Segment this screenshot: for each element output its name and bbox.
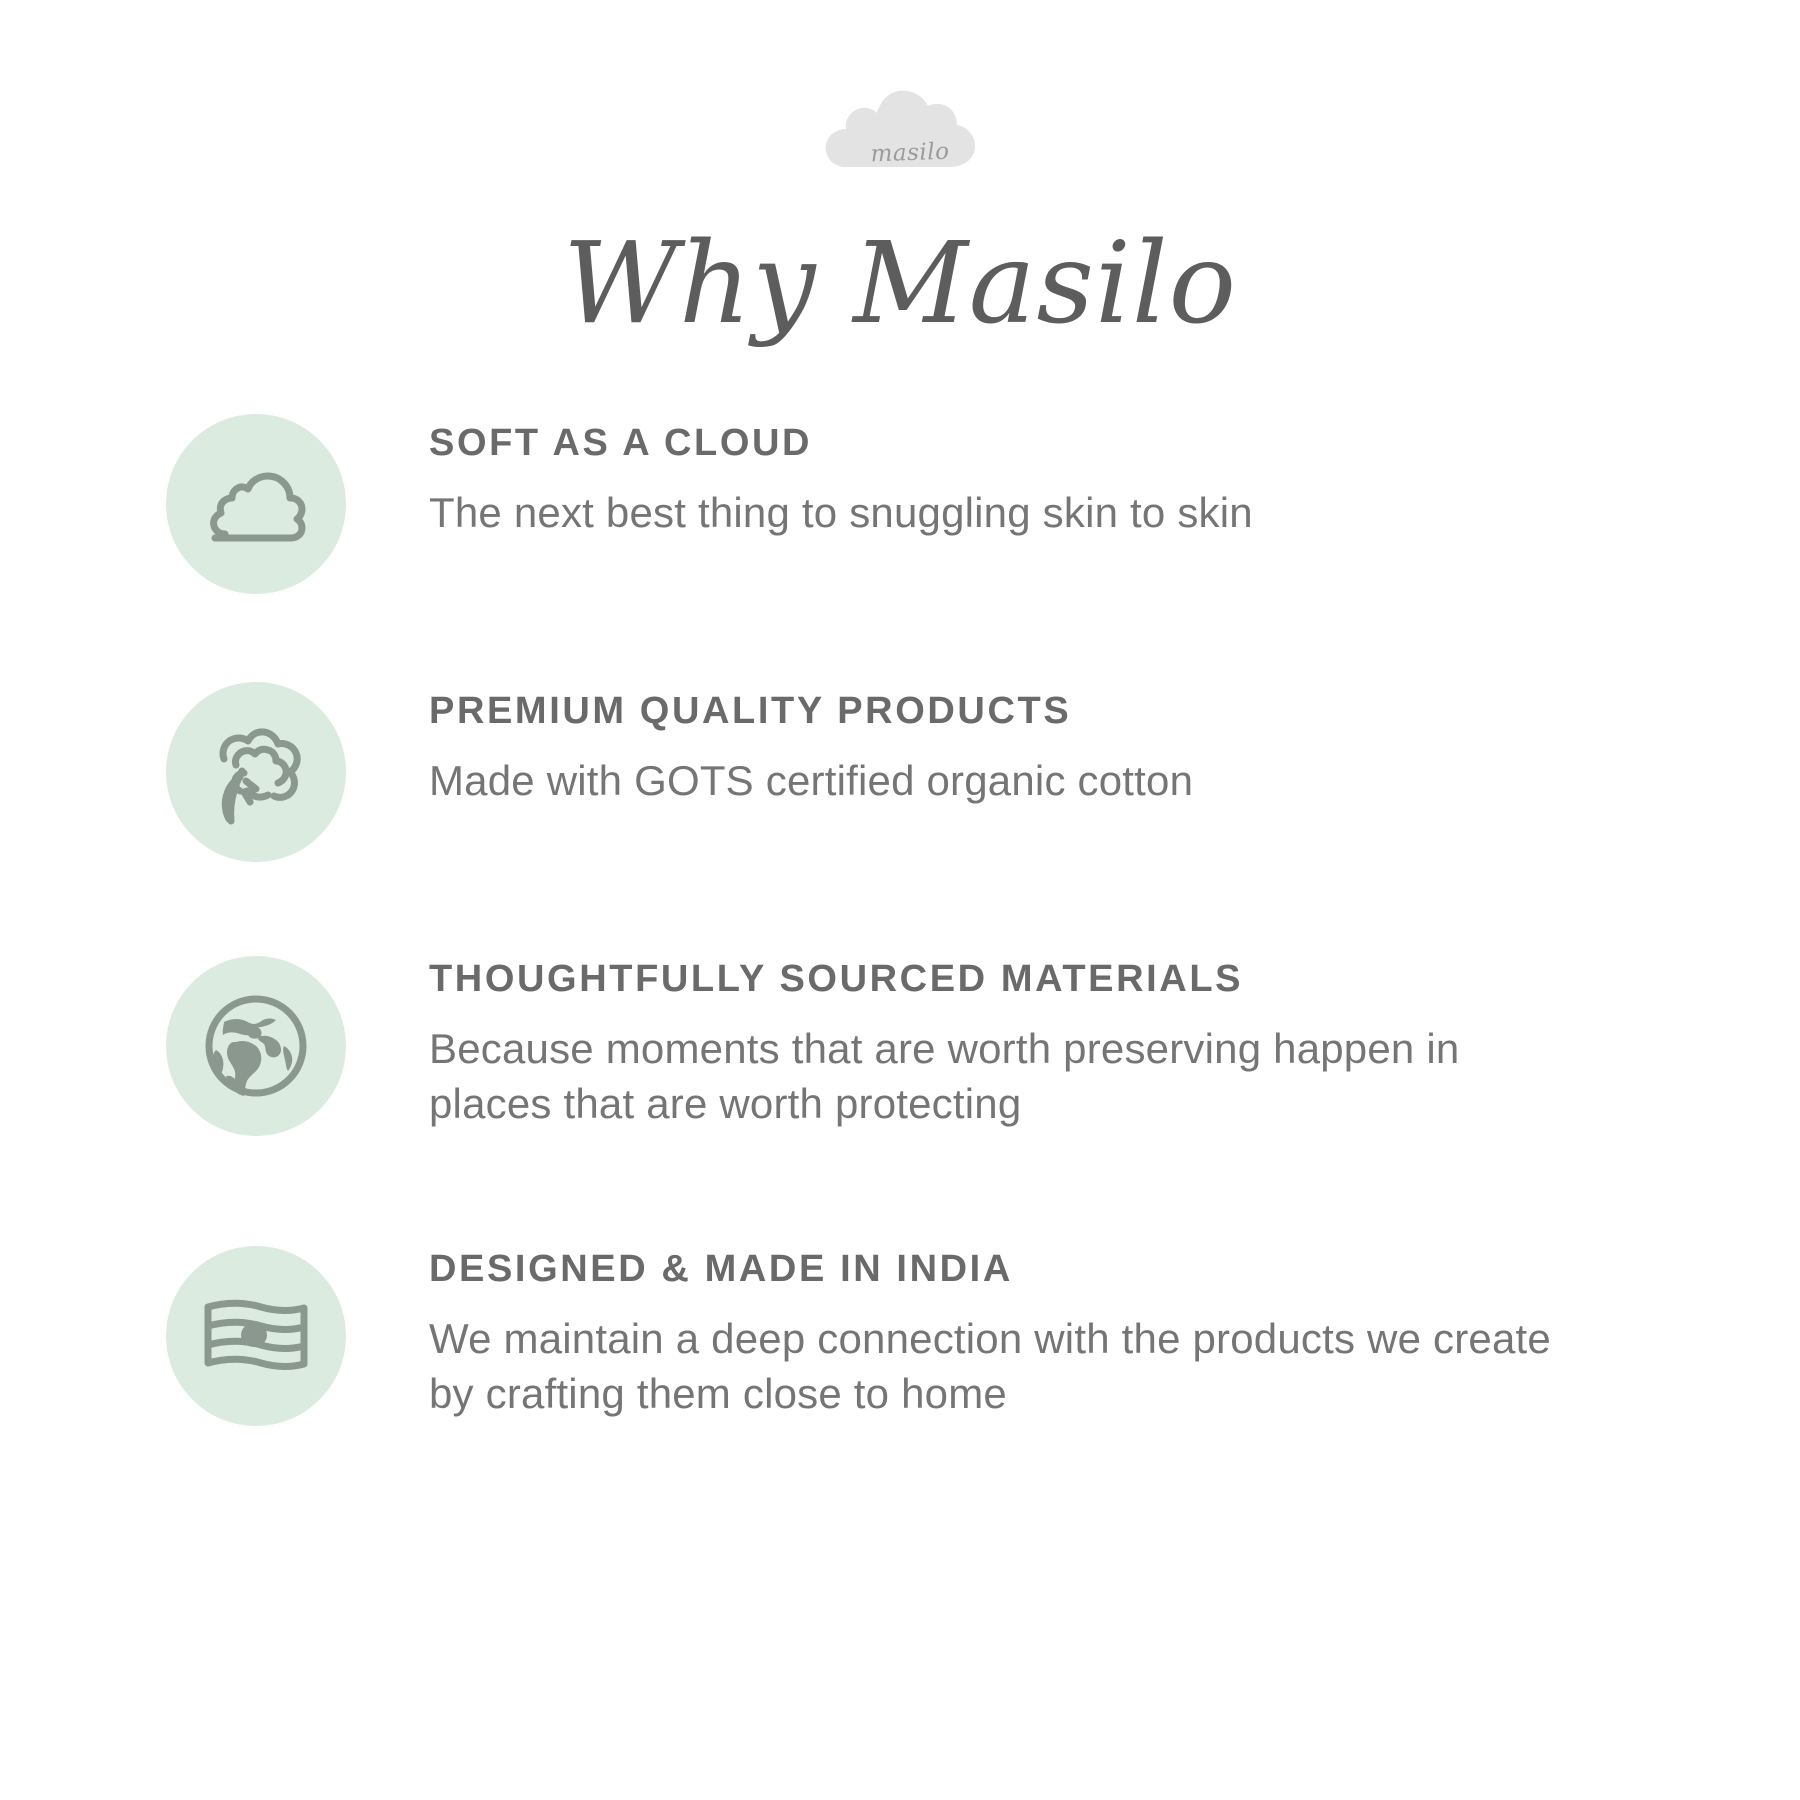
feature-row-premium-quality-products: PREMIUM QUALITY PRODUCTS Made with GOTS … [0,664,1800,932]
feature-row-designed-made-in-india: DESIGNED & MADE IN INDIA We maintain a d… [0,1222,1800,1522]
feature-heading: PREMIUM QUALITY PRODUCTS [429,690,1800,733]
feature-body: Made with GOTS certified organic cotton [429,753,1569,808]
cotton-boll-icon [166,682,346,862]
brand-logo: masilo [0,88,1800,194]
feature-body: Because moments that are worth preservin… [429,1021,1569,1132]
feature-list: SOFT AS A CLOUD The next best thing to s… [0,396,1800,1522]
page-title: Why Masilo [0,218,1800,350]
feature-text: SOFT AS A CLOUD The next best thing to s… [346,396,1800,540]
feature-heading: SOFT AS A CLOUD [429,422,1800,465]
feature-heading: DESIGNED & MADE IN INDIA [429,1248,1800,1291]
feature-row-thoughtfully-sourced-materials: THOUGHTFULLY SOURCED MATERIALS Because m… [0,932,1800,1222]
cloud-logo-icon: masilo [817,88,983,194]
why-masilo-page: masilo Why Masilo SOFT AS A CLOUD The ne… [0,0,1800,1800]
india-flag-icon [166,1246,346,1426]
feature-text: THOUGHTFULLY SOURCED MATERIALS Because m… [346,932,1800,1132]
globe-icon [166,956,346,1136]
feature-row-soft-as-a-cloud: SOFT AS A CLOUD The next best thing to s… [0,396,1800,664]
feature-body: The next best thing to snuggling skin to… [429,485,1569,540]
cloud-icon [166,414,346,594]
feature-body: We maintain a deep connection with the p… [429,1311,1569,1422]
feature-heading: THOUGHTFULLY SOURCED MATERIALS [429,958,1800,1001]
feature-text: DESIGNED & MADE IN INDIA We maintain a d… [346,1222,1800,1422]
feature-text: PREMIUM QUALITY PRODUCTS Made with GOTS … [346,664,1800,808]
